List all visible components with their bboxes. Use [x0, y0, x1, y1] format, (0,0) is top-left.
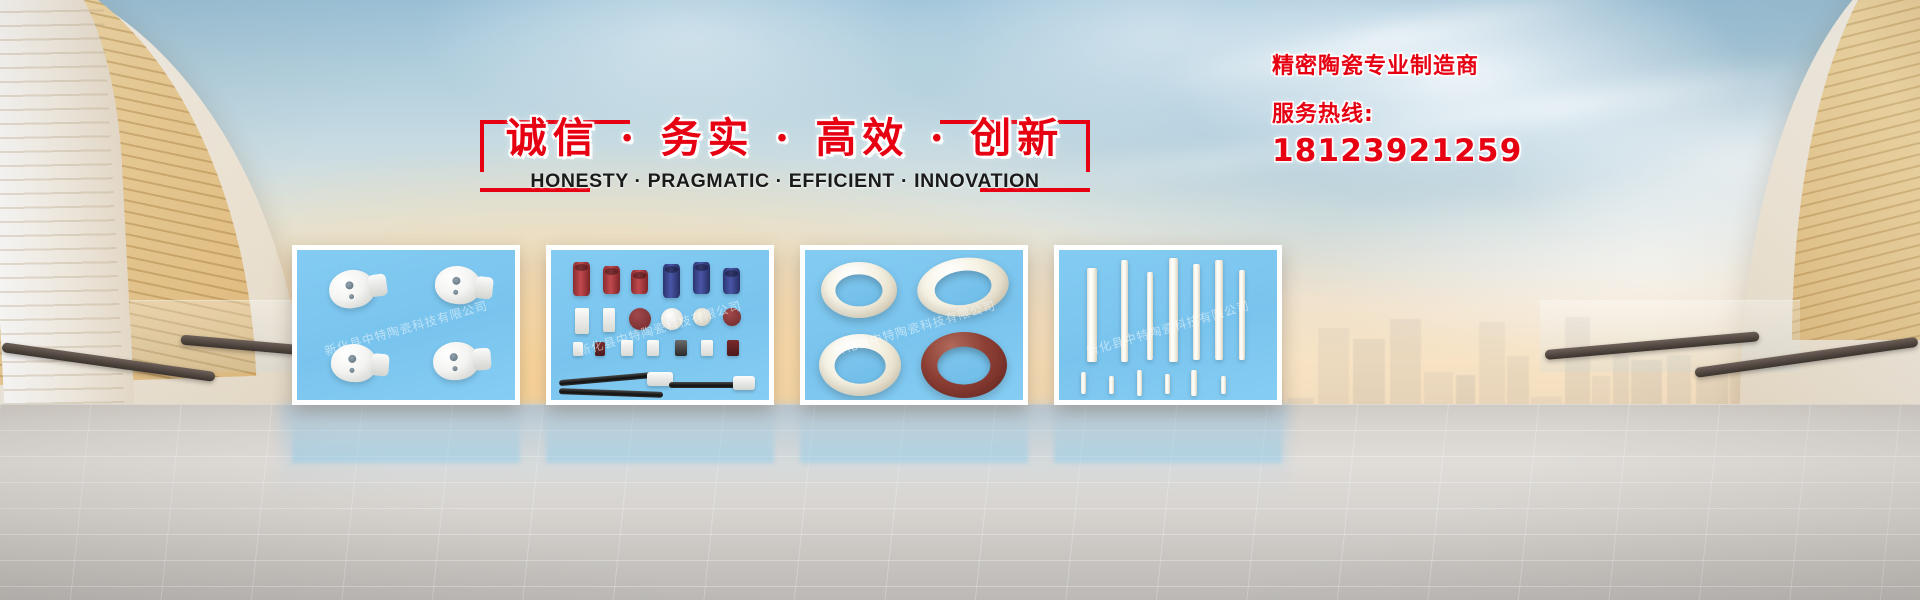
ceramic-lamp-holder [432, 340, 481, 381]
contact-info-block: 精密陶瓷专业制造商 服务热线: 18123921259 [1272, 52, 1692, 170]
sealing-ring [921, 332, 1007, 398]
right-canopy-louvers [1792, 0, 1920, 340]
ceramic-ring [661, 308, 683, 330]
ceramic-rod-small [1221, 376, 1226, 394]
card-image-area: 新化县中特陶瓷科技有限公司 [297, 250, 515, 400]
image-watermark: 新化县中特陶瓷科技有限公司 [1084, 297, 1251, 360]
ceramic-lamp-holder [327, 267, 378, 311]
ceramic-piece [701, 340, 713, 356]
ceramic-tube [603, 266, 620, 294]
ceramic-rod-small [1191, 370, 1197, 396]
ceramic-ring [913, 252, 1012, 322]
product-card-ceramic-tubes[interactable]: 新化县中特陶瓷科技有限公司 [546, 245, 774, 405]
card-image-area: 新化县中特陶瓷科技有限公司 [805, 250, 1023, 400]
card-image-area: 新化县中特陶瓷科技有限公司 [1059, 250, 1277, 400]
ceramic-rod-small [1137, 370, 1142, 396]
product-card-ceramic-rings[interactable]: 新化县中特陶瓷科技有限公司 [800, 245, 1028, 405]
ceramic-tube [573, 262, 590, 296]
ceramic-rod-small [1165, 374, 1170, 394]
ceramic-rod [1239, 270, 1245, 360]
ceramic-chip [603, 308, 615, 332]
ceramic-ring [693, 308, 711, 326]
ceramic-piece [647, 340, 659, 356]
ceramic-rod [1087, 268, 1097, 362]
ceramic-piece [595, 342, 605, 356]
ceramic-tube [723, 268, 740, 294]
ceramic-rod-small [1081, 372, 1086, 394]
card-reflection [292, 411, 520, 463]
ceramic-rod [1169, 258, 1178, 362]
wire-harness [669, 382, 741, 388]
wire-harness [559, 388, 663, 398]
hotline-phone-number[interactable]: 18123921259 [1272, 132, 1692, 170]
wire-harness [559, 372, 655, 386]
ceramic-tube [631, 270, 648, 294]
company-tagline: 精密陶瓷专业制造商 [1272, 52, 1692, 82]
ceramic-rod-small [1109, 376, 1114, 394]
product-card-row: 新化县中特陶瓷科技有限公司 [292, 245, 1282, 405]
ceramic-piece [621, 340, 633, 356]
ceramic-lamp-holder [433, 264, 483, 307]
product-card-ceramic-rods[interactable]: 新化县中特陶瓷科技有限公司 [1054, 245, 1282, 405]
ceramic-rod [1147, 272, 1153, 360]
hotline-label: 服务热线: [1272, 100, 1692, 130]
ceramic-rod [1215, 260, 1223, 360]
card-reflection [546, 411, 774, 463]
ceramic-chip [575, 308, 589, 334]
card-reflection [800, 411, 1028, 463]
ceramic-piece [573, 342, 583, 356]
sealing-ring [723, 308, 741, 326]
ceramic-ring [821, 262, 897, 318]
product-card-ceramic-lamp-holders[interactable]: 新化县中特陶瓷科技有限公司 [292, 245, 520, 405]
ceramic-lamp-holder [330, 342, 379, 383]
ceramic-rod [1193, 264, 1200, 360]
ceramic-tube [693, 262, 710, 294]
ceramic-rod [1121, 260, 1128, 362]
card-reflection [1054, 411, 1282, 463]
ceramic-piece [727, 340, 739, 356]
card-image-area: 新化县中特陶瓷科技有限公司 [551, 250, 769, 400]
ceramic-ring [819, 334, 901, 396]
slogan-block: 诚信 · 务实 · 高效 · 创新 HONESTY · PRAGMATIC · … [480, 108, 1090, 208]
hero-banner: 诚信 · 务实 · 高效 · 创新 HONESTY · PRAGMATIC · … [0, 0, 1920, 600]
ceramic-tube [663, 264, 680, 298]
wire-connector [733, 376, 755, 390]
slogan-english: HONESTY · PRAGMATIC · EFFICIENT · INNOVA… [480, 170, 1090, 193]
ceramic-piece [675, 340, 687, 356]
sealing-ring [629, 308, 651, 330]
slogan-chinese: 诚信 · 务实 · 高效 · 创新 [480, 108, 1090, 168]
